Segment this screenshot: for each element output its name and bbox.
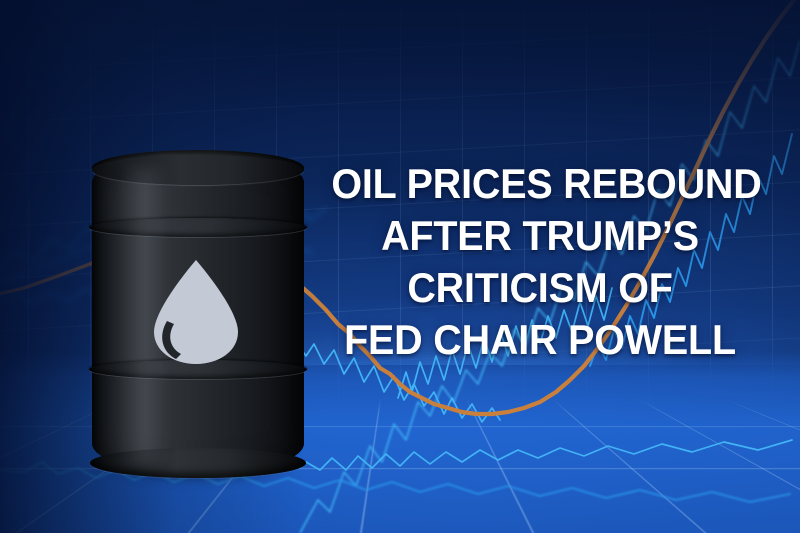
page-title: OIL PRICES REBOUND AFTER TRUMP’S CRITICI… bbox=[331, 158, 748, 366]
barrel-bottom-rim bbox=[90, 448, 306, 478]
oil-drop-icon bbox=[150, 258, 242, 366]
headline-line-2: AFTER TRUMP’S bbox=[331, 210, 748, 262]
headline-line-1: OIL PRICES REBOUND bbox=[331, 158, 748, 210]
oil-barrel bbox=[92, 152, 304, 474]
news-graphic-canvas: OIL PRICES REBOUND AFTER TRUMP’S CRITICI… bbox=[0, 0, 800, 533]
headline-line-4: FED CHAIR POWELL bbox=[331, 314, 748, 366]
barrel-rib-upper bbox=[89, 218, 307, 237]
headline-line-3: CRITICISM OF bbox=[331, 262, 748, 314]
barrel-top-lid bbox=[92, 155, 304, 185]
